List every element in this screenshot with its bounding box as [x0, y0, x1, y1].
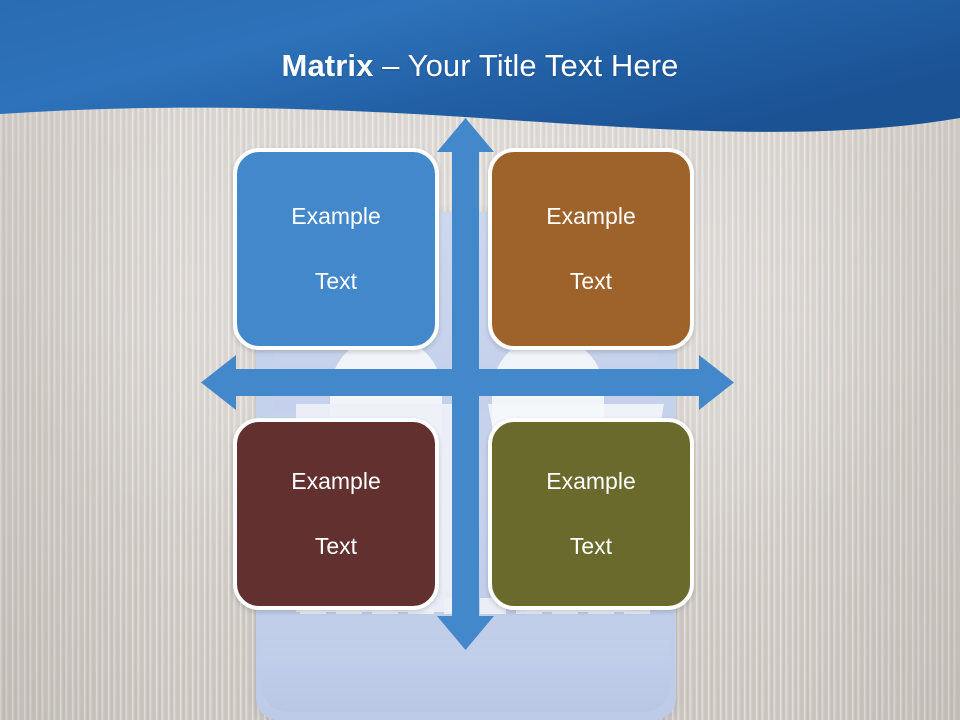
quadrant-label-top-left: Example Text: [263, 200, 408, 298]
quadrant-box-bottom-left[interactable]: Example Text: [233, 418, 439, 610]
quadrant-box-bottom-right[interactable]: Example Text: [488, 418, 694, 610]
quadrant-label-bottom-right-line1: Example: [532, 465, 649, 498]
slide-canvas: Matrix – Your Title Text Here Example Te…: [0, 0, 960, 720]
quadrant-label-bottom-left-line1: Example: [277, 465, 394, 498]
slide-title: Matrix – Your Title Text Here: [0, 48, 960, 84]
quadrant-label-top-right-line1: Example: [532, 200, 649, 233]
quadrant-label-top-right-line2: Text: [532, 265, 649, 298]
slide-header: Matrix – Your Title Text Here: [0, 0, 960, 140]
quadrant-label-bottom-left: Example Text: [263, 465, 408, 563]
quadrant-label-top-left-line1: Example: [277, 200, 394, 233]
quadrant-box-top-right[interactable]: Example Text: [488, 148, 694, 350]
slide-title-strong: Matrix: [282, 48, 374, 83]
quadrant-label-bottom-right-line2: Text: [532, 530, 649, 563]
slide-title-rest: – Your Title Text Here: [373, 48, 678, 83]
quadrant-label-bottom-right: Example Text: [518, 465, 663, 563]
quadrant-label-top-left-line2: Text: [277, 265, 394, 298]
quadrant-box-top-left[interactable]: Example Text: [233, 148, 439, 350]
quadrant-label-top-right: Example Text: [518, 200, 663, 298]
quadrant-label-bottom-left-line2: Text: [277, 530, 394, 563]
